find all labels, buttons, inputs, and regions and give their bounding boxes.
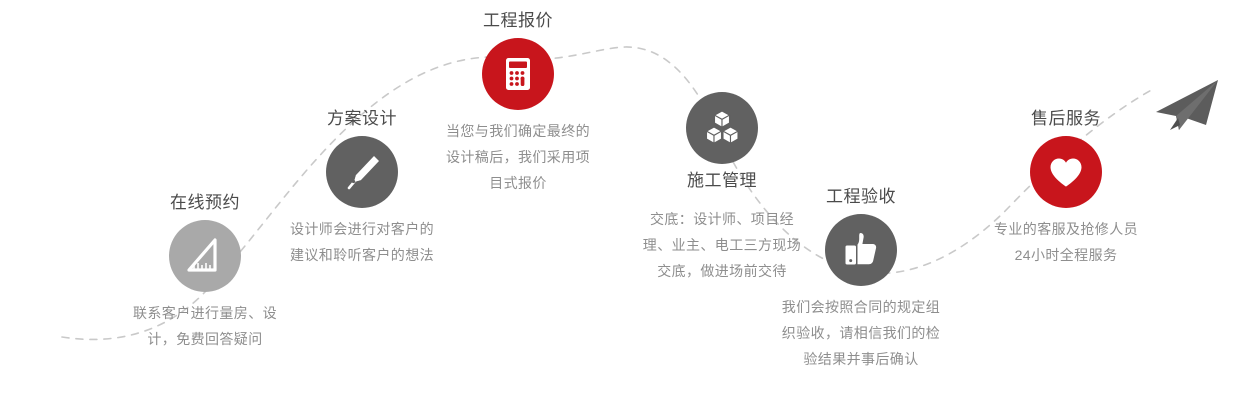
heart-icon xyxy=(1046,152,1086,192)
step-description: 我们会按照合同的规定组织验收，请相信我们的检验结果并事后确认 xyxy=(780,294,942,372)
step-icon-circle[interactable] xyxy=(482,38,554,110)
step-icon-circle[interactable] xyxy=(686,92,758,164)
step-description: 当您与我们确定最终的设计稿后，我们采用项目式报价 xyxy=(443,118,593,196)
process-flow-diagram: 在线预约 联系客户进行量房、设计，免费回答疑问 方案设计 xyxy=(0,0,1245,402)
step-node-5[interactable]: 工程验收 我们会按照合同的规定组织验收，请相信我们的检验结果并事后确认 xyxy=(751,186,971,372)
step-icon-circle[interactable] xyxy=(825,214,897,286)
calculator-icon xyxy=(498,54,538,94)
step-description: 联系客户进行量房、设计，免费回答疑问 xyxy=(130,300,280,352)
step-title: 工程报价 xyxy=(408,10,628,32)
fountain-pen-icon xyxy=(341,151,383,193)
thumbs-up-icon xyxy=(840,229,882,271)
step-description: 专业的客服及抢修人员24小时全程服务 xyxy=(987,216,1145,268)
step-description: 设计师会进行对客户的建议和聆听客户的想法 xyxy=(287,216,437,268)
step-title: 售后服务 xyxy=(956,108,1176,130)
step-icon-circle[interactable] xyxy=(326,136,398,208)
step-title: 工程验收 xyxy=(751,186,971,208)
step-icon-circle[interactable] xyxy=(1030,136,1102,208)
set-square-ruler-icon xyxy=(183,234,227,278)
blocks-cubes-icon xyxy=(701,107,743,149)
step-node-6[interactable]: 售后服务 专业的客服及抢修人员24小时全程服务 xyxy=(956,108,1176,268)
step-icon-circle[interactable] xyxy=(169,220,241,292)
step-node-3[interactable]: 工程报价 当您与我们确定最终的设计稿后，我们采用项目式报价 xyxy=(408,10,628,196)
